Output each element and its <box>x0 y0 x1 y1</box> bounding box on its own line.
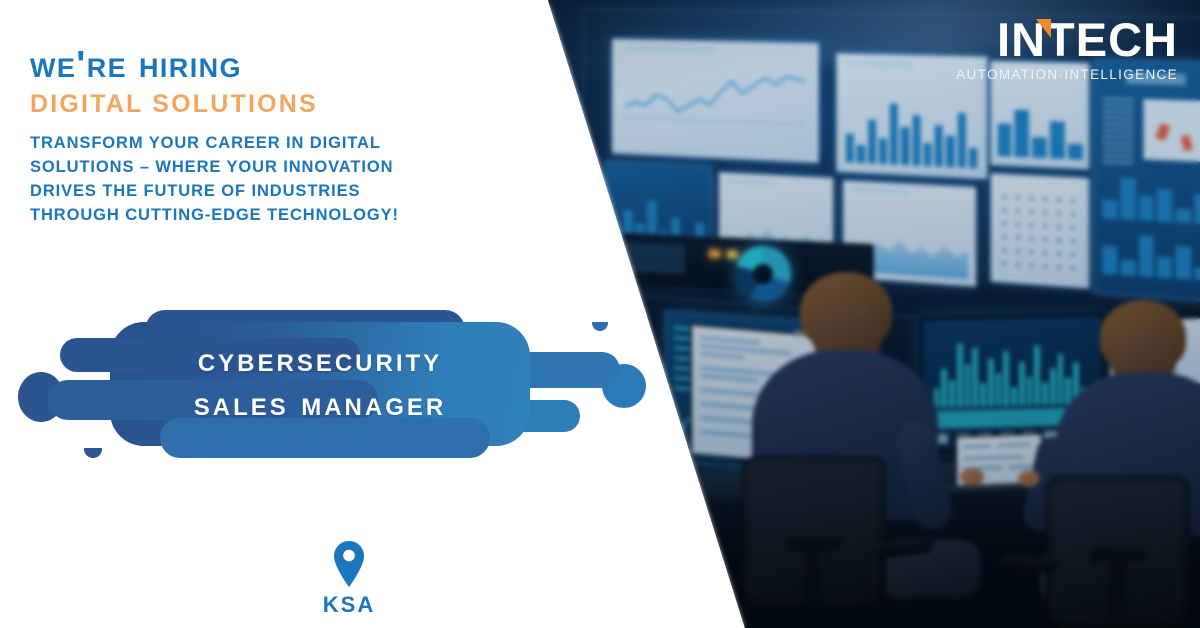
deco-dot-bottom <box>84 448 102 458</box>
job-title-text: Cybersecurity Sales Manager <box>110 338 530 426</box>
map-pin-icon <box>274 540 424 588</box>
logo-text: INTECH <box>997 13 1178 66</box>
job-title-line1: Cybersecurity <box>110 338 530 382</box>
headline-block: We're Hiring DIGITAL SOLUTIONS TRANSFORM… <box>30 44 460 227</box>
job-title-ribbon: Cybersecurity Sales Manager <box>0 300 660 490</box>
blurb-line: THROUGH CUTTING-EDGE TECHNOLOGY! <box>30 203 460 227</box>
blurb-line: SOLUTIONS – WHERE YOUR INNOVATION <box>30 155 460 179</box>
logo-orange-triangle-icon <box>1036 19 1051 38</box>
deco-dot-top <box>592 322 608 331</box>
logo-wordmark: INTECH <box>997 16 1178 63</box>
job-title-line2: Sales Manager <box>110 382 530 426</box>
logo-tagline: AUTOMATION·INTELLIGENCE <box>956 67 1178 82</box>
location-label: KSA <box>274 592 424 618</box>
hiring-headline: We're Hiring <box>30 44 460 86</box>
department-kicker: DIGITAL SOLUTIONS <box>30 90 460 119</box>
blurb-line: TRANSFORM YOUR CAREER IN DIGITAL <box>30 131 460 155</box>
intech-logo: INTECH AUTOMATION·INTELLIGENCE <box>956 16 1178 82</box>
blurb-paragraph: TRANSFORM YOUR CAREER IN DIGITAL SOLUTIO… <box>30 131 460 227</box>
location-block: KSA <box>274 540 424 618</box>
recruitment-banner: INTECH AUTOMATION·INTELLIGENCE We're Hir… <box>0 0 1200 628</box>
blurb-line: DRIVES THE FUTURE OF INDUSTRIES <box>30 179 460 203</box>
